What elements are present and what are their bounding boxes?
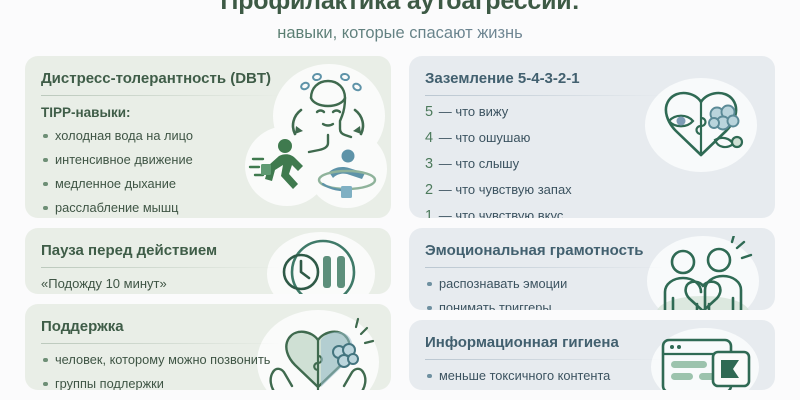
step-dash: —	[439, 130, 452, 145]
list-item: 1 — что чувствую вкус	[425, 208, 759, 218]
left-column: Дистресс-толерантность (DBT) TIPP-навыки…	[25, 56, 391, 400]
step-number: 1	[425, 208, 433, 218]
step-number: 3	[425, 156, 433, 172]
step-label: что чувствую вкус	[455, 208, 563, 218]
page-title: Профилактика аутоагрессии:	[0, 0, 800, 16]
card-divider	[425, 359, 665, 360]
page-header: Профилактика аутоагрессии: навыки, котор…	[0, 0, 800, 43]
list-item: человек, которому можно позвонить	[41, 352, 375, 367]
grounding-steps-list: 5 — что вижу 4 — что ошушаю 3 — что слыш…	[425, 104, 759, 218]
card-distress-tolerance[interactable]: Дистресс-толерантность (DBT) TIPP-навыки…	[25, 56, 391, 218]
cards-board: Дистресс-толерантность (DBT) TIPP-навыки…	[0, 56, 800, 400]
card-divider	[41, 95, 281, 96]
step-label: что чувствую запах	[455, 182, 571, 197]
list-item: распознавать эмоции	[425, 276, 759, 291]
card-information-hygiene[interactable]: Информационная гигиена меньше токсичного…	[409, 320, 775, 390]
stray-glyph: д	[116, 386, 121, 390]
pause-quote: «Подожду 10 минут»	[41, 276, 375, 292]
information-hygiene-list: меньше токсичного контента	[425, 368, 759, 383]
list-item: медленное дыхание	[41, 176, 375, 191]
list-item: интенсивное движение	[41, 152, 375, 167]
card-title-emotional-literacy: Эмоциональная грамотность	[425, 241, 759, 260]
list-item: 4 — что ошушаю	[425, 130, 759, 146]
card-divider	[425, 95, 665, 96]
right-column: Заземление 5-4-3-2-1 5 — что вижу 4 — чт…	[409, 56, 775, 400]
card-emotional-literacy[interactable]: Эмоциональная грамотность распознавать э…	[409, 228, 775, 310]
step-label: что вижу	[455, 104, 508, 119]
list-item-label: группы подлержки	[55, 376, 164, 390]
page-subtitle: навыки, которые спасают жизнь	[0, 23, 800, 43]
step-label: что ошушаю	[455, 130, 530, 145]
list-item: расслабление мышц	[41, 200, 375, 215]
step-number: 2	[425, 182, 433, 198]
card-grounding-54321[interactable]: Заземление 5-4-3-2-1 5 — что вижу 4 — чт…	[409, 56, 775, 218]
card-title-pause-before-action: Пауза перед действием	[41, 241, 375, 260]
tipp-skills-label: TIPP-навыки:	[41, 104, 375, 121]
list-item: 5 — что вижу	[425, 104, 759, 120]
step-number: 5	[425, 104, 433, 120]
distress-tolerance-list: холодная вода на лицо интенсивное движен…	[41, 128, 375, 215]
card-title-grounding: Заземление 5-4-3-2-1	[425, 69, 759, 88]
card-title-distress-tolerance: Дистресс-толерантность (DBT)	[41, 69, 375, 88]
list-item: меньше токсичного контента	[425, 368, 759, 383]
step-dash: —	[439, 182, 452, 197]
card-pause-before-action[interactable]: Пауза перед действием «Подожду 10 минут»	[25, 228, 391, 294]
emotional-literacy-list: распознавать эмоции понимать триггеры ра…	[425, 276, 759, 310]
list-item: 3 — что слышу	[425, 156, 759, 172]
list-item: понимать триггеры	[425, 300, 759, 310]
card-title-information-hygiene: Информационная гигиена	[425, 333, 759, 352]
support-list: человек, которому можно позвонить группы…	[41, 352, 375, 390]
card-divider	[41, 343, 281, 344]
card-title-support: Поддержка	[41, 317, 375, 336]
step-number: 4	[425, 130, 433, 146]
step-dash: —	[439, 156, 452, 171]
card-support[interactable]: Поддержка человек, которому можно позвон…	[25, 304, 391, 390]
list-item: холодная вода на лицо	[41, 128, 375, 143]
step-dash: —	[439, 104, 452, 119]
list-item: 2 — что чувствую запах	[425, 182, 759, 198]
step-dash: —	[439, 208, 452, 218]
step-label: что слышу	[455, 156, 519, 171]
card-divider	[425, 267, 665, 268]
list-item: группы подлержки д	[41, 376, 375, 390]
card-divider	[41, 267, 281, 268]
